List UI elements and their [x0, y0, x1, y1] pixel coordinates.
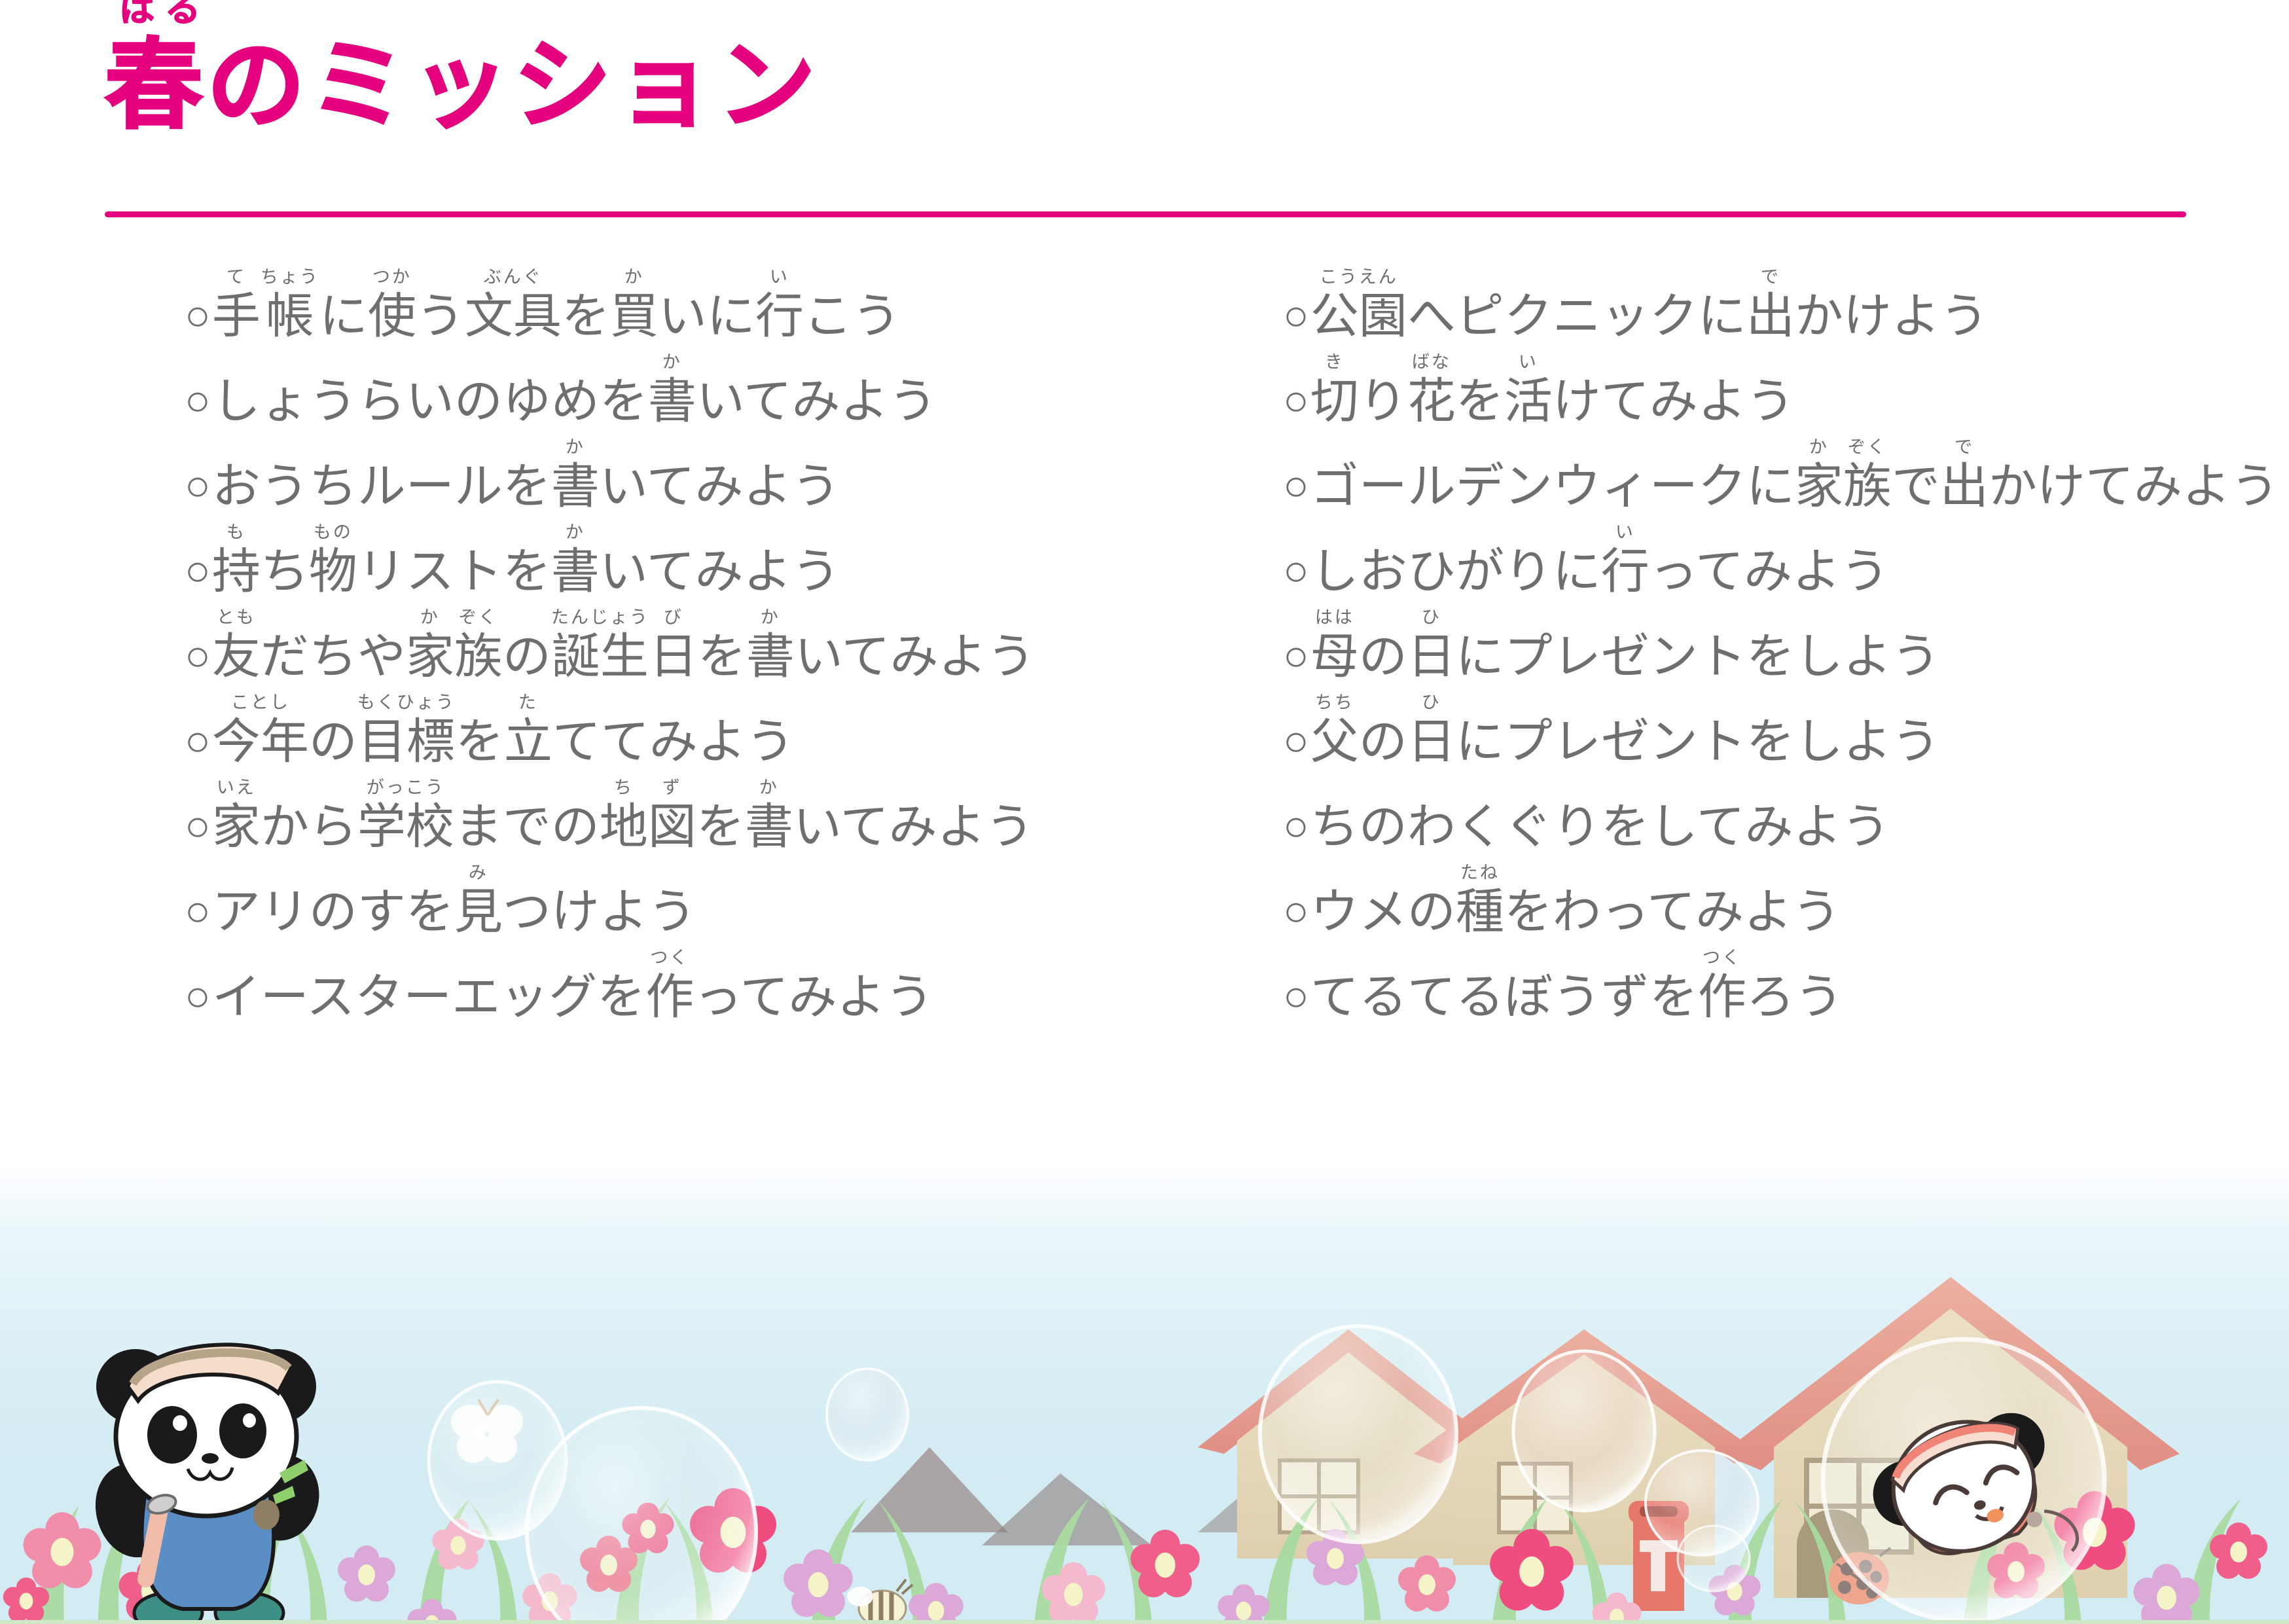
- text-run: いてみよう: [600, 524, 840, 596]
- base-text: 文具: [465, 291, 562, 340]
- mission-item[interactable]: ○ イースターエッグをつく作 ってみよう: [185, 936, 1172, 1021]
- ruby-group: か書: [551, 439, 600, 511]
- mission-list: ○て手ちょう帳 につか使 うぶんぐ文具 をか買 い にい行 こう○ しょうらいの…: [0, 255, 2289, 1165]
- ruby-group: い活: [1504, 353, 1553, 425]
- base-text: 出: [1746, 291, 1795, 340]
- furigana: とも: [217, 609, 256, 628]
- furigana: いえ: [217, 779, 256, 799]
- base-text: 目標: [358, 717, 455, 766]
- checkbox-circle-icon[interactable]: ○: [185, 974, 211, 1017]
- base-text: しょうらいのゆめを: [212, 376, 648, 425]
- base-text: 族: [454, 632, 503, 681]
- furigana: つく: [650, 949, 689, 969]
- base-text: を: [698, 632, 746, 681]
- ruby-group: ひ日: [1407, 609, 1456, 681]
- mission-item-text: も持 ちもの物 リストをか書 いてみよう: [212, 524, 840, 596]
- base-text: 家: [212, 802, 261, 851]
- mission-item-text: てるてるぼうずをつく作 ろう: [1310, 949, 1843, 1021]
- base-text: 書: [551, 547, 600, 596]
- furigana: き: [1325, 353, 1344, 373]
- furigana: か: [624, 268, 644, 288]
- mission-item[interactable]: ○き切 りばな花 をい活 けてみよう: [1283, 340, 2289, 425]
- text-run: だちや: [261, 609, 406, 681]
- base-text: にプレゼントをしよう: [1456, 632, 1940, 681]
- title-block: はる 春のミッション: [105, 36, 2186, 232]
- ruby-group: もくひょう目標: [357, 694, 456, 766]
- base-text: 買: [610, 291, 658, 340]
- ruby-group: ひ日: [1407, 694, 1456, 766]
- base-text: こう: [804, 291, 901, 340]
- text-run: いてみよう: [795, 609, 1036, 681]
- text-run: おうちルールを: [212, 439, 551, 511]
- text-run: を: [456, 694, 504, 766]
- furigana: で: [1955, 439, 1974, 458]
- furigana: がっこう: [367, 779, 445, 799]
- ruby-group: ち地: [600, 779, 648, 851]
- mission-item-text: いえ家 からがっこう学校 までのち地ず図 をか書 いてみよう: [212, 779, 1034, 851]
- base-text: で: [1892, 461, 1940, 511]
- base-text: 家: [406, 632, 454, 681]
- furigana: ぞく: [459, 609, 498, 628]
- base-text: をわってみよう: [1504, 887, 1841, 936]
- ruby-group: つく作: [645, 949, 694, 1021]
- base-text: 日: [1407, 632, 1456, 681]
- mission-item[interactable]: ○ しおひがりにい行 ってみよう: [1283, 511, 2289, 596]
- checkbox-circle-icon[interactable]: ○: [1283, 463, 1309, 507]
- base-text: にプレゼントをしよう: [1456, 717, 1940, 766]
- furigana: もくひょう: [357, 694, 456, 713]
- text-run: を: [562, 268, 610, 340]
- checkbox-circle-icon[interactable]: ○: [185, 549, 211, 592]
- base-text: 行: [1601, 547, 1649, 596]
- base-text: つけよう: [503, 887, 696, 936]
- furigana: もの: [314, 524, 353, 543]
- mission-item-text: ことし今年 のもくひょう目標 をた立 ててみよう: [212, 694, 795, 766]
- page-title: はる 春のミッション: [105, 36, 820, 134]
- base-text: ってみよう: [694, 972, 933, 1021]
- base-text: 日: [649, 632, 698, 681]
- furigana: も: [226, 524, 246, 543]
- text-run: の: [309, 694, 357, 766]
- ruby-group: か家: [1795, 439, 1843, 511]
- base-text: 誕生: [552, 632, 649, 681]
- text-run: を: [698, 609, 746, 681]
- furigana: て: [226, 268, 246, 288]
- ruby-group: い行: [755, 268, 804, 340]
- base-text: アリのすを: [212, 887, 454, 936]
- base-text: を: [456, 717, 504, 766]
- text-run: い: [658, 268, 707, 340]
- ruby-group: はは母: [1310, 609, 1359, 681]
- furigana: た: [518, 694, 538, 713]
- base-text: しおひがりに: [1310, 547, 1601, 596]
- mission-item-text: しょうらいのゆめをか書 いてみよう: [212, 353, 937, 425]
- base-text: 手: [212, 291, 261, 340]
- furigana: ちょう: [261, 268, 319, 288]
- ruby-group: ず図: [648, 779, 696, 851]
- base-text: けてみよう: [1553, 376, 1795, 425]
- base-text: 母: [1310, 632, 1359, 681]
- checkbox-circle-icon[interactable]: ○: [1283, 378, 1309, 422]
- base-text: に: [319, 291, 368, 340]
- base-text: ウメの: [1310, 887, 1456, 936]
- base-text: ろう: [1746, 972, 1843, 1021]
- ruby-group: て手: [212, 268, 261, 340]
- base-text: 公園: [1310, 291, 1407, 340]
- checkbox-circle-icon[interactable]: ○: [1283, 889, 1309, 932]
- base-text: 書: [551, 461, 600, 511]
- base-text: 立: [504, 717, 552, 766]
- text-run: を: [1456, 353, 1504, 425]
- ruby-group: がっこう学校: [357, 779, 454, 851]
- text-run: までの: [454, 779, 600, 851]
- base-text: う: [416, 291, 465, 340]
- base-text: の: [1359, 717, 1407, 766]
- furigana: ばな: [1412, 353, 1451, 373]
- base-text: 作: [1698, 972, 1746, 1021]
- mission-item-text: ウメのたね種 をわってみよう: [1310, 864, 1841, 936]
- furigana: み: [469, 864, 488, 884]
- ruby-group: たね種: [1456, 864, 1504, 936]
- checkbox-circle-icon[interactable]: ○: [185, 719, 211, 762]
- text-run: で: [1892, 439, 1940, 511]
- text-run: いてみよう: [600, 439, 840, 511]
- ruby-group: ぶんぐ文具: [465, 268, 562, 340]
- mission-item[interactable]: ○も持 ちもの物 リストをか書 いてみよう: [185, 511, 1172, 596]
- checkbox-circle-icon[interactable]: ○: [1283, 719, 1309, 762]
- mission-item-text: ゴールデンウィークにか家ぞく族 でで出 かけてみよう: [1310, 439, 2279, 511]
- mission-item-text: はは母 のひ日 にプレゼントをしよう: [1310, 609, 1940, 681]
- text-run: しょうらいのゆめを: [212, 353, 648, 425]
- checkbox-circle-icon[interactable]: ○: [1283, 293, 1309, 336]
- text-run: に: [707, 268, 755, 340]
- base-text: 物: [309, 547, 357, 596]
- text-run: てるてるぼうずを: [1310, 949, 1698, 1021]
- mission-item[interactable]: ○ アリのすをみ見 つけよう: [185, 851, 1172, 936]
- ruby-group: ことし今年: [212, 694, 309, 766]
- mission-item[interactable]: ○ おうちルールをか書 いてみよう: [185, 425, 1172, 511]
- text-run: しおひがりに: [1310, 524, 1601, 596]
- mission-item[interactable]: ○ちち父 のひ日 にプレゼントをしよう: [1283, 681, 2289, 766]
- mission-item[interactable]: ○ ウメのたね種 をわってみよう: [1283, 851, 2289, 936]
- title-underline-rule: [105, 211, 2186, 217]
- mission-item-text: アリのすをみ見 つけよう: [212, 864, 696, 936]
- ruby-group: か買: [610, 268, 658, 340]
- title-furigana: はる: [119, 0, 211, 27]
- furigana: で: [1761, 268, 1780, 288]
- ruby-group: み見: [454, 864, 503, 936]
- ruby-group: もの物: [309, 524, 357, 596]
- ruby-group: も持: [212, 524, 261, 596]
- furigana: ちち: [1315, 694, 1354, 713]
- ruby-group: び日: [649, 609, 698, 681]
- text-run: ってみよう: [694, 949, 933, 1021]
- ruby-group: つく作: [1698, 949, 1746, 1021]
- mission-item-text: こうえん公園 へピクニックにで出 かけよう: [1310, 268, 1989, 340]
- furigana: つか: [372, 268, 412, 288]
- text-run: かけてみよう: [1989, 439, 2279, 511]
- text-run: にプレゼントをしよう: [1456, 609, 1940, 681]
- furigana: い: [1519, 353, 1538, 373]
- text-run: り: [1359, 353, 1407, 425]
- text-run: イースターエッグを: [212, 949, 645, 1021]
- text-run: をわってみよう: [1504, 864, 1841, 936]
- base-text: 切: [1310, 376, 1359, 425]
- base-text: かけてみよう: [1989, 461, 2279, 511]
- ruby-group: ばな花: [1407, 353, 1456, 425]
- mission-item-text: しおひがりにい行 ってみよう: [1310, 524, 1889, 596]
- base-text: ちのわくぐりをしてみよう: [1310, 802, 1890, 851]
- text-run: を: [696, 779, 745, 851]
- checkbox-circle-icon[interactable]: ○: [185, 463, 211, 507]
- text-run: ウメの: [1310, 864, 1456, 936]
- base-text: 活: [1504, 376, 1553, 425]
- furigana: こうえん: [1320, 268, 1398, 288]
- base-text: いてみよう: [795, 632, 1036, 681]
- text-run: ろう: [1746, 949, 1843, 1021]
- ruby-group: い行: [1601, 524, 1649, 596]
- ruby-group: で出: [1940, 439, 1989, 511]
- base-text: ち: [261, 547, 309, 596]
- text-run: ってみよう: [1649, 524, 1889, 596]
- ruby-group: か書: [745, 779, 793, 851]
- base-text: かけよう: [1795, 291, 1989, 340]
- checkbox-circle-icon[interactable]: ○: [1283, 549, 1309, 592]
- checkbox-circle-icon[interactable]: ○: [1283, 634, 1309, 677]
- furigana: たね: [1460, 864, 1500, 884]
- base-text: 持: [212, 547, 261, 596]
- mission-item-text: イースターエッグをつく作 ってみよう: [212, 949, 934, 1021]
- base-text: 父: [1310, 717, 1359, 766]
- text-run: ち: [261, 524, 309, 596]
- base-text: ってみよう: [1649, 547, 1889, 596]
- base-text: 作: [645, 972, 694, 1021]
- mission-item[interactable]: ○て手ちょう帳 につか使 うぶんぐ文具 をか買 い にい行 こう: [185, 255, 1172, 340]
- text-run: いてみよう: [793, 779, 1034, 851]
- ruby-group: ちち父: [1310, 694, 1359, 766]
- base-text: 行: [755, 291, 804, 340]
- ruby-group: こうえん公園: [1310, 268, 1407, 340]
- text-run: へピクニックに: [1407, 268, 1746, 340]
- bee-icon: [847, 1579, 912, 1624]
- base-text: 出: [1940, 461, 1989, 511]
- text-run: の: [1359, 694, 1407, 766]
- ruby-group: つか使: [368, 268, 416, 340]
- ruby-group: か書: [551, 524, 600, 596]
- base-text: 書: [648, 376, 696, 425]
- text-run: の: [503, 609, 551, 681]
- text-run: かけよう: [1795, 268, 1989, 340]
- checkbox-circle-icon[interactable]: ○: [185, 889, 211, 932]
- base-text: を: [1456, 376, 1504, 425]
- mission-item-text: ちち父 のひ日 にプレゼントをしよう: [1310, 694, 1940, 766]
- base-text: 家: [1795, 461, 1843, 511]
- base-text: 友: [212, 632, 261, 681]
- furigana: ぶんぐ: [484, 268, 543, 288]
- base-text: てるてるぼうずを: [1310, 972, 1698, 1021]
- furigana: び: [664, 609, 683, 628]
- furigana: か: [566, 439, 585, 458]
- base-text: へピクニックに: [1407, 291, 1746, 340]
- ruby-group: いえ家: [212, 779, 261, 851]
- base-text: 図: [648, 802, 696, 851]
- checkbox-circle-icon[interactable]: ○: [1283, 974, 1309, 1017]
- checkbox-circle-icon[interactable]: ○: [185, 634, 211, 677]
- spring-scene-illustration: [0, 1166, 2289, 1624]
- furigana: か: [1809, 439, 1829, 458]
- base-text: を: [696, 802, 745, 851]
- base-text: 花: [1407, 376, 1456, 425]
- mission-item-text: とも友 だちやか家ぞく族 のたんじょう誕生び日 をか書 いてみよう: [212, 609, 1036, 681]
- base-text: ゴールデンウィークに: [1310, 461, 1795, 511]
- base-text: ててみよう: [552, 717, 795, 766]
- spring-mission-page: はる 春のミッション ○て手ちょう帳 につか使 うぶんぐ文具 をか買 い にい行…: [0, 0, 2289, 1624]
- mission-item[interactable]: ○はは母 のひ日 にプレゼントをしよう: [1283, 596, 2289, 681]
- furigana: ことし: [231, 694, 290, 713]
- text-run: から: [261, 779, 357, 851]
- furigana: たんじょう: [551, 609, 649, 628]
- furigana: ぞく: [1848, 439, 1887, 458]
- text-run: つけよう: [503, 864, 696, 936]
- mission-item-text: ちのわくぐりをしてみよう: [1310, 779, 1890, 851]
- text-run: ゴールデンウィークに: [1310, 439, 1795, 511]
- base-text: 日: [1407, 717, 1456, 766]
- mission-list-left-column: ○て手ちょう帳 につか使 うぶんぐ文具 をか買 い にい行 こう○ しょうらいの…: [0, 255, 1172, 1165]
- mission-item-text: て手ちょう帳 につか使 うぶんぐ文具 をか買 い にい行 こう: [212, 268, 901, 340]
- base-text: 帳: [266, 291, 314, 340]
- base-text: 今年: [212, 717, 309, 766]
- mission-list-right-column: ○こうえん公園 へピクニックにで出 かけよう○き切 りばな花 をい活 けてみよう…: [1172, 255, 2289, 1165]
- mission-item[interactable]: ○ てるてるぼうずをつく作 ろう: [1283, 936, 2289, 1021]
- base-text: いてみよう: [696, 376, 937, 425]
- text-run: にプレゼントをしよう: [1456, 694, 1940, 766]
- base-text: おうちルールを: [212, 461, 551, 511]
- mission-item[interactable]: ○ ちのわくぐりをしてみよう: [1283, 766, 2289, 851]
- mission-item-text: おうちルールをか書 いてみよう: [212, 439, 840, 511]
- text-run: ててみよう: [552, 694, 795, 766]
- ruby-group: たんじょう誕生: [551, 609, 649, 681]
- mission-item[interactable]: ○ しょうらいのゆめをか書 いてみよう: [185, 340, 1172, 425]
- ruby-group: た立: [504, 694, 552, 766]
- base-text: までの: [454, 802, 600, 851]
- ruby-group: とも友: [212, 609, 261, 681]
- text-run: ちのわくぐりをしてみよう: [1310, 779, 1890, 851]
- furigana: ひ: [1422, 694, 1441, 713]
- base-text: 学校: [357, 802, 454, 851]
- base-text: いてみよう: [600, 461, 840, 511]
- text-run: いてみよう: [696, 353, 937, 425]
- base-text: の: [503, 632, 551, 681]
- text-run: アリのすを: [212, 864, 454, 936]
- base-text: 地: [600, 802, 648, 851]
- base-text: 種: [1456, 887, 1504, 936]
- base-text: いてみよう: [600, 547, 840, 596]
- furigana: か: [761, 609, 780, 628]
- mission-item[interactable]: ○ ゴールデンウィークにか家ぞく族 でで出 かけてみよう: [1283, 425, 2289, 511]
- ruby-group: き切: [1310, 353, 1359, 425]
- checkbox-circle-icon[interactable]: ○: [1283, 804, 1309, 847]
- checkbox-circle-icon[interactable]: ○: [185, 378, 211, 422]
- base-text: 使: [368, 291, 416, 340]
- bottom-edge-rule: [0, 1620, 2289, 1624]
- mission-item-text: き切 りばな花 をい活 けてみよう: [1310, 353, 1795, 425]
- ruby-group: か書: [746, 609, 795, 681]
- furigana: か: [566, 524, 585, 543]
- text-run: リストを: [357, 524, 551, 596]
- ruby-group: か書: [648, 353, 696, 425]
- base-text: り: [1359, 376, 1407, 425]
- checkbox-circle-icon[interactable]: ○: [185, 804, 211, 847]
- ruby-group: ぞく族: [1843, 439, 1892, 511]
- base-text: 族: [1843, 461, 1892, 511]
- base-text: イースターエッグを: [212, 972, 645, 1021]
- page-title-text: 春のミッション: [105, 30, 820, 140]
- furigana: はは: [1315, 609, 1354, 628]
- base-text: 見: [454, 887, 503, 936]
- base-text: の: [309, 717, 357, 766]
- furigana: い: [1615, 524, 1635, 543]
- base-text: に: [707, 291, 755, 340]
- mission-item[interactable]: ○ことし今年 のもくひょう目標 をた立 ててみよう: [185, 681, 1172, 766]
- base-text: いてみよう: [793, 802, 1034, 851]
- furigana: か: [759, 779, 779, 799]
- checkbox-circle-icon[interactable]: ○: [185, 293, 211, 336]
- ruby-group: で出: [1746, 268, 1795, 340]
- furigana: つく: [1703, 949, 1742, 969]
- mission-item[interactable]: ○とも友 だちやか家ぞく族 のたんじょう誕生び日 をか書 いてみよう: [185, 596, 1172, 681]
- mission-item[interactable]: ○いえ家 からがっこう学校 までのち地ず図 をか書 いてみよう: [185, 766, 1172, 851]
- base-text: リストを: [357, 547, 551, 596]
- text-run: に: [319, 268, 368, 340]
- base-text: 書: [745, 802, 793, 851]
- furigana: い: [770, 268, 789, 288]
- text-run: けてみよう: [1553, 353, 1795, 425]
- text-run: の: [1359, 609, 1407, 681]
- base-text: 書: [746, 632, 795, 681]
- base-text: い: [658, 291, 707, 340]
- base-text: の: [1359, 632, 1407, 681]
- ruby-group: か家: [406, 609, 454, 681]
- text-run: う: [416, 268, 465, 340]
- base-text: を: [562, 291, 610, 340]
- furigana: ず: [662, 779, 682, 799]
- furigana: か: [420, 609, 440, 628]
- ruby-group: ちょう帳: [261, 268, 319, 340]
- furigana: か: [662, 353, 682, 373]
- text-run: こう: [804, 268, 901, 340]
- furigana: ひ: [1422, 609, 1441, 628]
- ruby-group: ぞく族: [454, 609, 503, 681]
- base-text: だちや: [261, 632, 406, 681]
- base-text: から: [261, 802, 357, 851]
- mission-item[interactable]: ○こうえん公園 へピクニックにで出 かけよう: [1283, 255, 2289, 340]
- furigana: ち: [614, 779, 634, 799]
- scene-artwork: [0, 1166, 2289, 1624]
